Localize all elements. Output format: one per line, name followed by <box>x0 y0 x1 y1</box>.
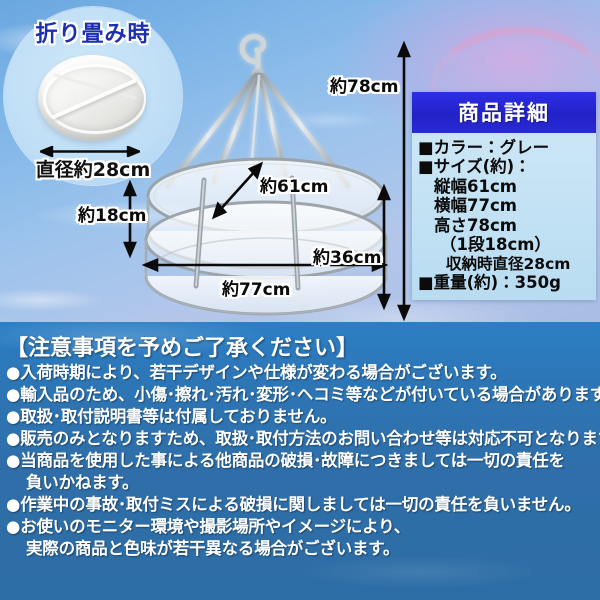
dimension-label-width: 約77cm <box>222 275 290 300</box>
notice-item: 負いかねます。 <box>6 472 598 494</box>
product-detail-header: 商品詳細 <box>412 92 596 133</box>
dimension-label-side-height: 約36cm <box>313 243 381 268</box>
product-detail-line: ■重量(約)：350g <box>418 273 592 292</box>
notice-item: ●販売のみとなりますため、取扱･取付方法のお問い合わせ等は対応不可となります。 <box>6 428 598 450</box>
product-detail-line: 高さ78cm <box>418 216 592 235</box>
notice-item: ●当商品を使用した事による他商品の破損･故障につきましては一切の責任を <box>6 450 598 472</box>
notice-item: 実際の商品と色味が若干異なる場合がございます。 <box>6 538 598 560</box>
product-detail-panel: 商品詳細 ■カラー：グレー■サイズ(約)：縦幅61cm横幅77cm高さ78cm（… <box>412 92 596 300</box>
disc-fold-line <box>53 73 136 100</box>
product-detail-line: 縦幅61cm <box>418 177 592 196</box>
notices-panel: 【注意事項を予めご了承ください】 ●入荷時期により、若干デザインや仕様が変わる場… <box>0 322 600 600</box>
product-detail-header-text: 商品詳細 <box>458 101 550 125</box>
folded-net-disc-icon <box>38 55 146 141</box>
folded-state-title: 折り畳み時 <box>4 16 182 48</box>
notices-list: ●入荷時期により、若干デザインや仕様が変わる場合がございます。●輸入品のため、小… <box>6 362 598 559</box>
hook-icon <box>242 37 264 78</box>
notice-item: ●作業中の事故･取付ミスによる破損に関しましては一切の責任を負いません。 <box>6 494 598 516</box>
folded-diameter-label: 直径約28cm <box>4 155 182 182</box>
arrow-height-78 <box>399 44 409 318</box>
dimension-label-height: 約78cm <box>330 72 398 97</box>
notice-item: ●お使いのモニター環境や撮影場所やイメージにより、 <box>6 516 598 538</box>
product-detail-line: ■カラー：グレー <box>418 138 592 157</box>
product-detail-list: ■カラー：グレー■サイズ(約)：縦幅61cm横幅77cm高さ78cm（1段18c… <box>412 133 596 300</box>
product-detail-line: （1段18cm） <box>418 235 592 254</box>
product-info-image: 約78cm 約18cm 約61cm 約36cm 約77cm 折り畳み時 直径約2… <box>0 0 600 600</box>
product-detail-line: 収納時直径28cm <box>418 255 592 273</box>
dimension-label-tier-height: 約18cm <box>78 201 146 226</box>
notice-item: ●取扱･取付説明書等は付属しておりません。 <box>6 406 598 428</box>
notice-item: ●入荷時期により、若干デザインや仕様が変わる場合がございます。 <box>6 362 598 384</box>
notices-title: 【注意事項を予めご了承ください】 <box>6 330 358 362</box>
notice-item: ●輸入品のため、小傷･擦れ･汚れ･変形･ヘコミ等などが付いている場合があります。 <box>6 384 598 406</box>
product-detail-line: 横幅77cm <box>418 196 592 215</box>
product-detail-line: ■サイズ(約)： <box>418 157 592 176</box>
dimension-label-depth: 約61cm <box>260 172 328 197</box>
